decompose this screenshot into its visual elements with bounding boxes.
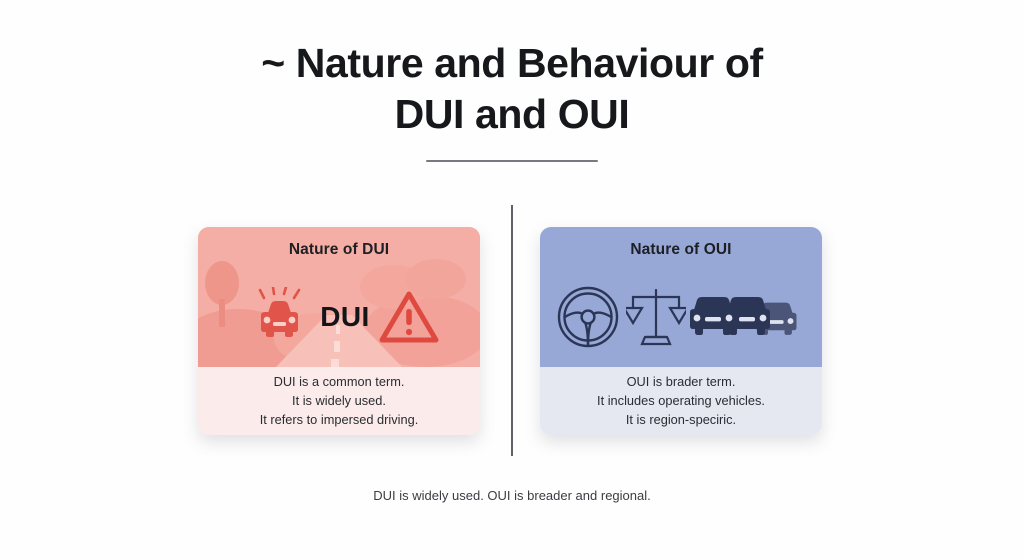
card-dui-icon-row: DUI [198, 279, 480, 355]
comparison-cards-area: Nature of DUI [0, 205, 1024, 460]
card-dui-title: Nature of DUI [198, 227, 480, 259]
title-line-2: DUI and OUI [0, 89, 1024, 140]
vertical-divider [511, 205, 513, 456]
card-dui-body-line: DUI is a common term. [274, 374, 405, 390]
card-oui-body-line: OUI is brader term. [627, 374, 736, 390]
card-oui-body-line: It includes operating vehicles. [597, 393, 765, 409]
title-line-1: ~ Nature and Behaviour of [0, 38, 1024, 89]
warning-triangle-icon [378, 289, 440, 345]
card-dui-body-line: It refers to impersed driving. [260, 412, 419, 428]
scales-of-justice-icon [626, 285, 686, 349]
card-oui-icon-row [540, 279, 822, 355]
card-dui-body: DUI is a common term. It is widely used.… [198, 367, 480, 435]
slide-canvas: ~ Nature and Behaviour of DUI and OUI [0, 0, 1024, 559]
card-oui[interactable]: Nature of OUI [540, 227, 822, 435]
car-front-icon [250, 287, 312, 347]
card-oui-title: Nature of OUI [540, 227, 822, 259]
footer-summary-text: DUI is widely used. OUI is breader and r… [0, 488, 1024, 503]
card-dui-header: Nature of DUI [198, 227, 480, 367]
steering-wheel-icon [554, 283, 622, 351]
card-oui-body-line: It is region-speciric. [626, 412, 736, 428]
card-dui-body-line: It is widely used. [292, 393, 386, 409]
card-dui[interactable]: Nature of DUI [198, 227, 480, 435]
title-underline-rule [426, 160, 598, 162]
card-oui-header: Nature of OUI [540, 227, 822, 367]
card-oui-body: OUI is brader term. It includes operatin… [540, 367, 822, 435]
three-cars-icon [690, 291, 808, 343]
card-dui-badge-label: DUI [320, 303, 369, 331]
page-title: ~ Nature and Behaviour of DUI and OUI [0, 38, 1024, 162]
